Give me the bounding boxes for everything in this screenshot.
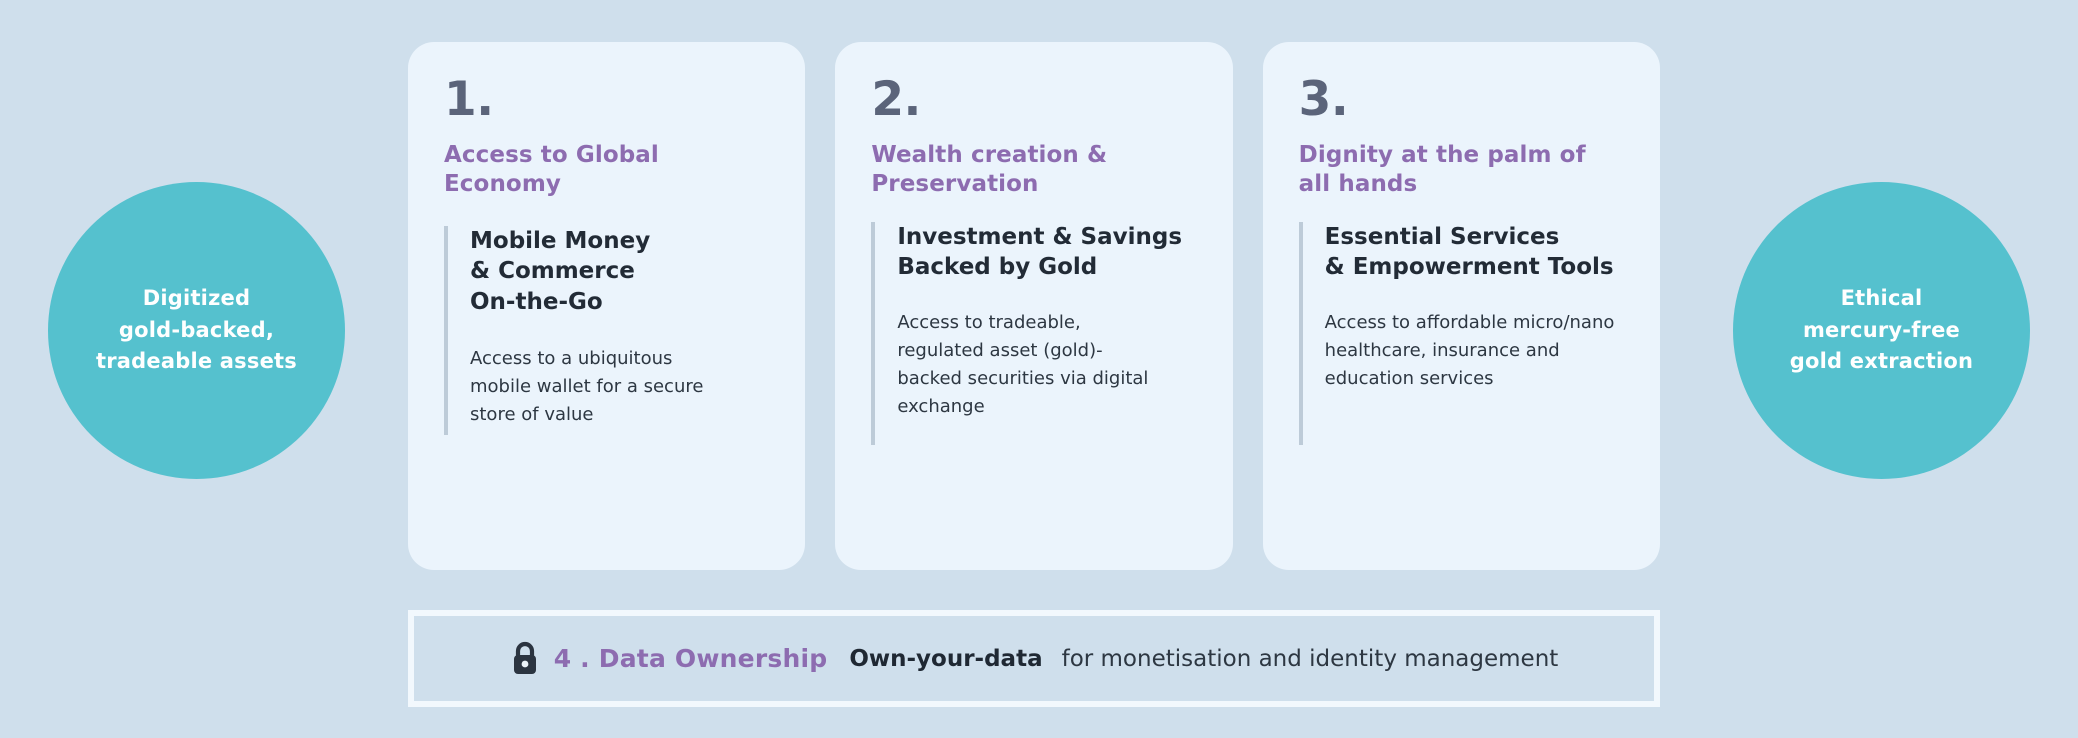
left-value-circle-text: Digitized gold-backed, tradeable assets xyxy=(82,283,311,379)
left-value-circle: Digitized gold-backed, tradeable assets xyxy=(48,182,345,479)
pillar-card-3-description: Access to affordable micro/nano healthca… xyxy=(1325,309,1624,393)
pillar-card-2-subject: Wealth creation & Preservation xyxy=(871,141,1196,200)
pillar-card-2-body: Investment & Savings Backed by Gold Acce… xyxy=(871,222,1196,445)
pillar-card-1-description: Access to a ubiquitous mobile wallet for… xyxy=(470,345,769,429)
pillar-card-1-body: Mobile Money & Commerce On-the-Go Access… xyxy=(444,226,769,435)
pillar-card-1-subject: Access to Global Economy xyxy=(444,141,769,200)
infographic-stage: Digitized gold-backed, tradeable assets … xyxy=(0,0,2078,738)
data-ownership-rest-text: for monetisation and identity management xyxy=(1062,646,1559,672)
pillar-card-1-number: 1. xyxy=(444,76,769,123)
right-value-circle-text: Ethical mercury-free gold extraction xyxy=(1776,283,1987,379)
pillar-card-1-heading: Mobile Money & Commerce On-the-Go xyxy=(470,226,769,317)
pillar-card-3-heading: Essential Services & Empowerment Tools xyxy=(1325,222,1624,283)
right-value-circle: Ethical mercury-free gold extraction xyxy=(1733,182,2030,479)
data-ownership-banner-content: 4 . Data Ownership Own-your-data for mon… xyxy=(510,641,1559,677)
lock-icon xyxy=(510,641,540,677)
pillar-card-2-number: 2. xyxy=(871,76,1196,123)
pillar-card-3-subject: Dignity at the palm of all hands xyxy=(1299,141,1624,200)
data-ownership-emphasis: Own-your-data xyxy=(849,646,1042,672)
pillar-card-2-heading: Investment & Savings Backed by Gold xyxy=(897,222,1196,283)
pillar-card-2-description: Access to tradeable, regulated asset (go… xyxy=(897,309,1196,421)
pillar-card-group: 1. Access to Global Economy Mobile Money… xyxy=(408,42,1660,570)
pillar-card-3[interactable]: 3. Dignity at the palm of all hands Esse… xyxy=(1263,42,1660,570)
data-ownership-banner[interactable]: 4 . Data Ownership Own-your-data for mon… xyxy=(408,610,1660,707)
pillar-card-2[interactable]: 2. Wealth creation & Preservation Invest… xyxy=(835,42,1232,570)
pillar-card-1[interactable]: 1. Access to Global Economy Mobile Money… xyxy=(408,42,805,570)
pillar-card-3-body: Essential Services & Empowerment Tools A… xyxy=(1299,222,1624,445)
data-ownership-step-label: 4 . Data Ownership xyxy=(554,644,828,673)
pillar-card-3-number: 3. xyxy=(1299,76,1624,123)
